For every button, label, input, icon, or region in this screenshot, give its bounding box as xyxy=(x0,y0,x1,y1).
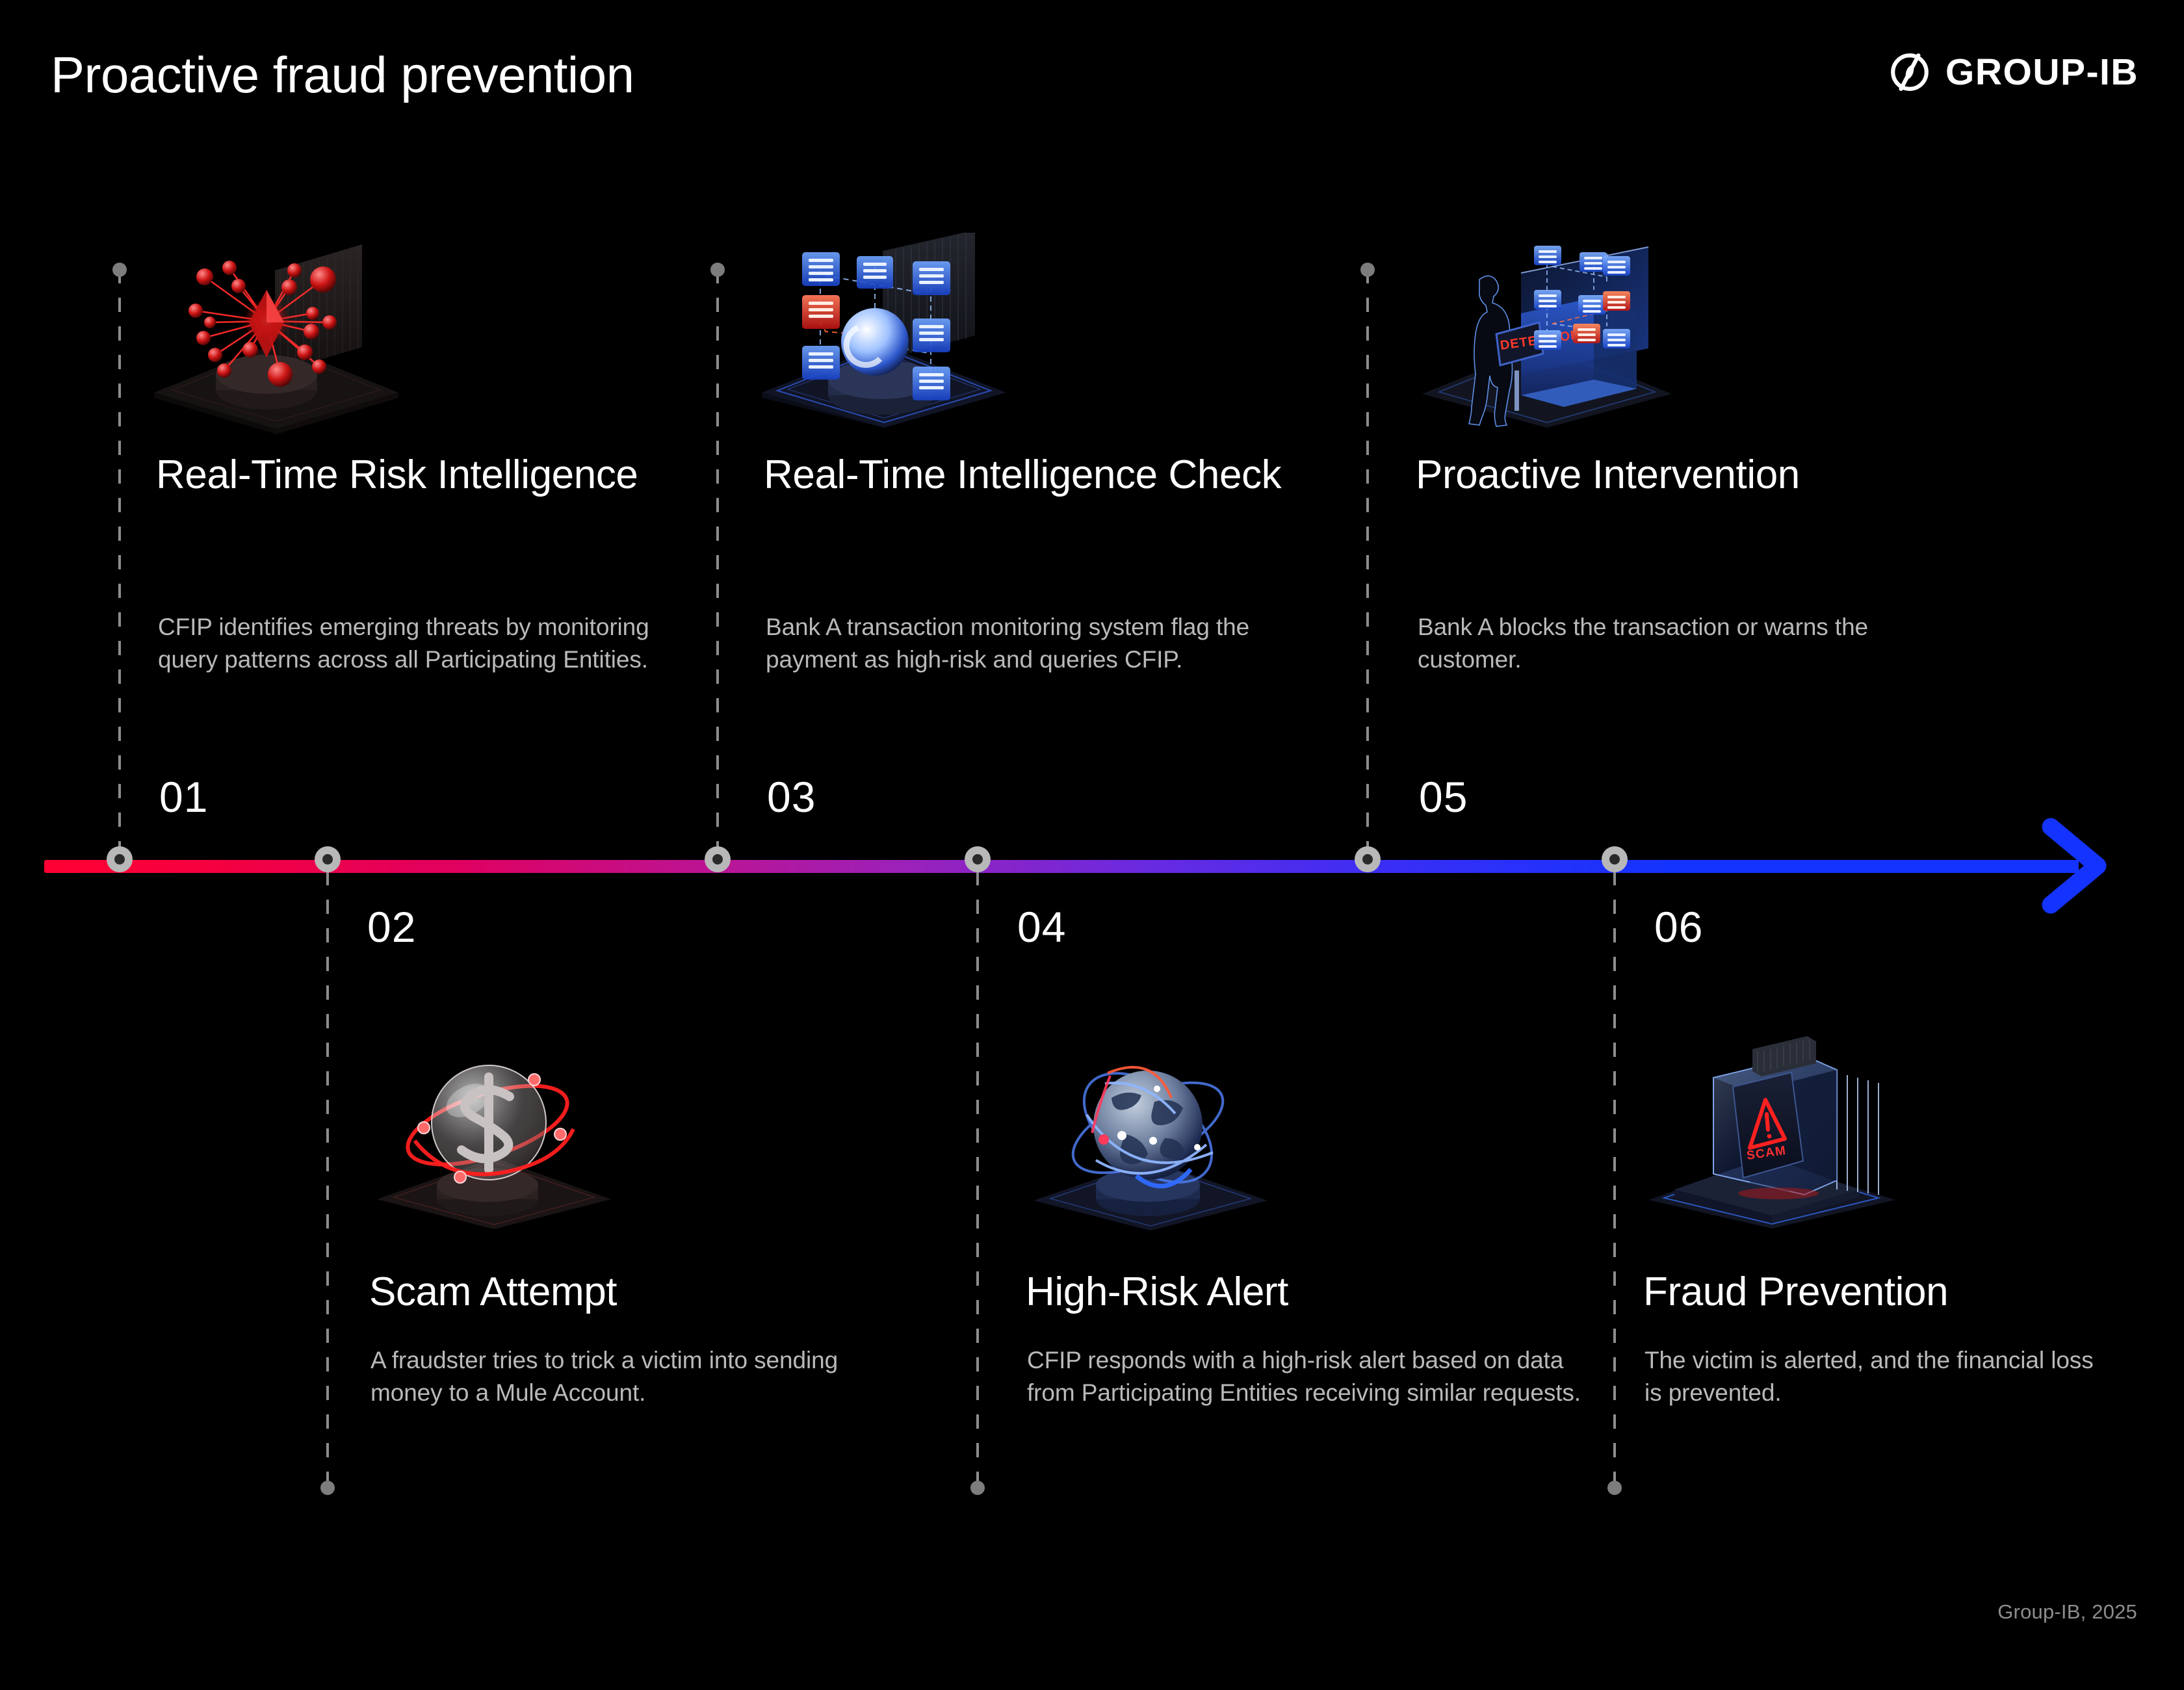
step-04-description: CFIP responds with a high-risk alert bas… xyxy=(1027,1344,1599,1409)
server-nodes-glowing-sphere-icon xyxy=(754,233,1014,428)
step-05-description: Bank A blocks the transaction or warns t… xyxy=(1418,611,1873,676)
connector-cap-04 xyxy=(970,1481,985,1495)
step-05-illustration: DETECTION xyxy=(1417,233,1677,428)
page-title: Proactive fraud prevention xyxy=(51,45,634,105)
step-04-title: High-Risk Alert xyxy=(1026,1271,1611,1314)
step-04-number: 04 xyxy=(1017,902,1066,952)
step-03-title: Real-Time Intelligence Check xyxy=(764,454,1349,497)
analyst-detection-kiosk-icon: DETECTION xyxy=(1417,233,1677,428)
step-06-number: 06 xyxy=(1654,902,1703,952)
footer-credit: Group-IB, 2025 xyxy=(1997,1600,2137,1624)
scam-warning-phone-cube-icon: SCAM xyxy=(1644,1027,1904,1228)
step-02-title: Scam Attempt xyxy=(369,1271,889,1314)
connector-line-01 xyxy=(118,269,121,854)
step-02-number: 02 xyxy=(367,902,416,952)
step-01-number: 01 xyxy=(159,772,208,822)
step-06-illustration: SCAM xyxy=(1644,1027,1904,1228)
step-02-description: A fraudster tries to trick a victim into… xyxy=(370,1344,851,1409)
connector-line-05 xyxy=(1366,269,1369,854)
step-06-title: Fraud Prevention xyxy=(1643,1271,2163,1314)
step-06-description: The victim is alerted, and the financial… xyxy=(1644,1344,2099,1409)
timeline-marker-04[interactable] xyxy=(965,846,991,872)
step-03-illustration xyxy=(754,233,1014,428)
step-01-title: Real-Time Risk Intelligence xyxy=(156,454,676,497)
timeline-marker-03[interactable] xyxy=(705,846,731,872)
dollar-sphere-red-orbit-icon xyxy=(370,1037,617,1232)
step-03-description: Bank A transaction monitoring system fla… xyxy=(766,611,1286,676)
connector-line-06 xyxy=(1613,871,1616,1482)
brand-name: GROUP-IB xyxy=(1945,51,2138,94)
step-05-title: Proactive Intervention xyxy=(1416,454,1936,497)
timeline-marker-01[interactable] xyxy=(107,846,133,872)
timeline-marker-02[interactable] xyxy=(315,846,341,872)
brand-lockup: GROUP-IB xyxy=(1888,51,2138,94)
step-01-illustration xyxy=(146,239,406,434)
step-05-number: 05 xyxy=(1419,772,1468,822)
connector-cap-05 xyxy=(1360,263,1375,277)
connector-cap-06 xyxy=(1607,1481,1622,1495)
step-04-illustration xyxy=(1027,1037,1274,1232)
group-ib-logo-icon xyxy=(1888,51,1931,94)
connector-cap-01 xyxy=(112,263,127,277)
infographic-canvas: Proactive fraud prevention GROUP-IB xyxy=(0,0,2184,1690)
step-03-number: 03 xyxy=(767,772,816,822)
step-01-description: CFIP identifies emerging threats by moni… xyxy=(158,611,678,676)
connector-cap-02 xyxy=(320,1481,335,1495)
red-threat-burst-podium-icon xyxy=(146,239,406,434)
connector-line-02 xyxy=(326,871,329,1482)
timeline-gradient-bar xyxy=(44,860,2079,873)
timeline-marker-06[interactable] xyxy=(1602,846,1628,872)
connector-line-03 xyxy=(716,269,719,854)
timeline-marker-05[interactable] xyxy=(1355,846,1381,872)
right-arrow-icon xyxy=(2038,818,2116,914)
connector-cap-03 xyxy=(710,263,725,277)
step-02-illustration xyxy=(370,1037,617,1232)
connector-line-04 xyxy=(976,871,979,1482)
globe-network-orbits-icon xyxy=(1027,1037,1274,1232)
